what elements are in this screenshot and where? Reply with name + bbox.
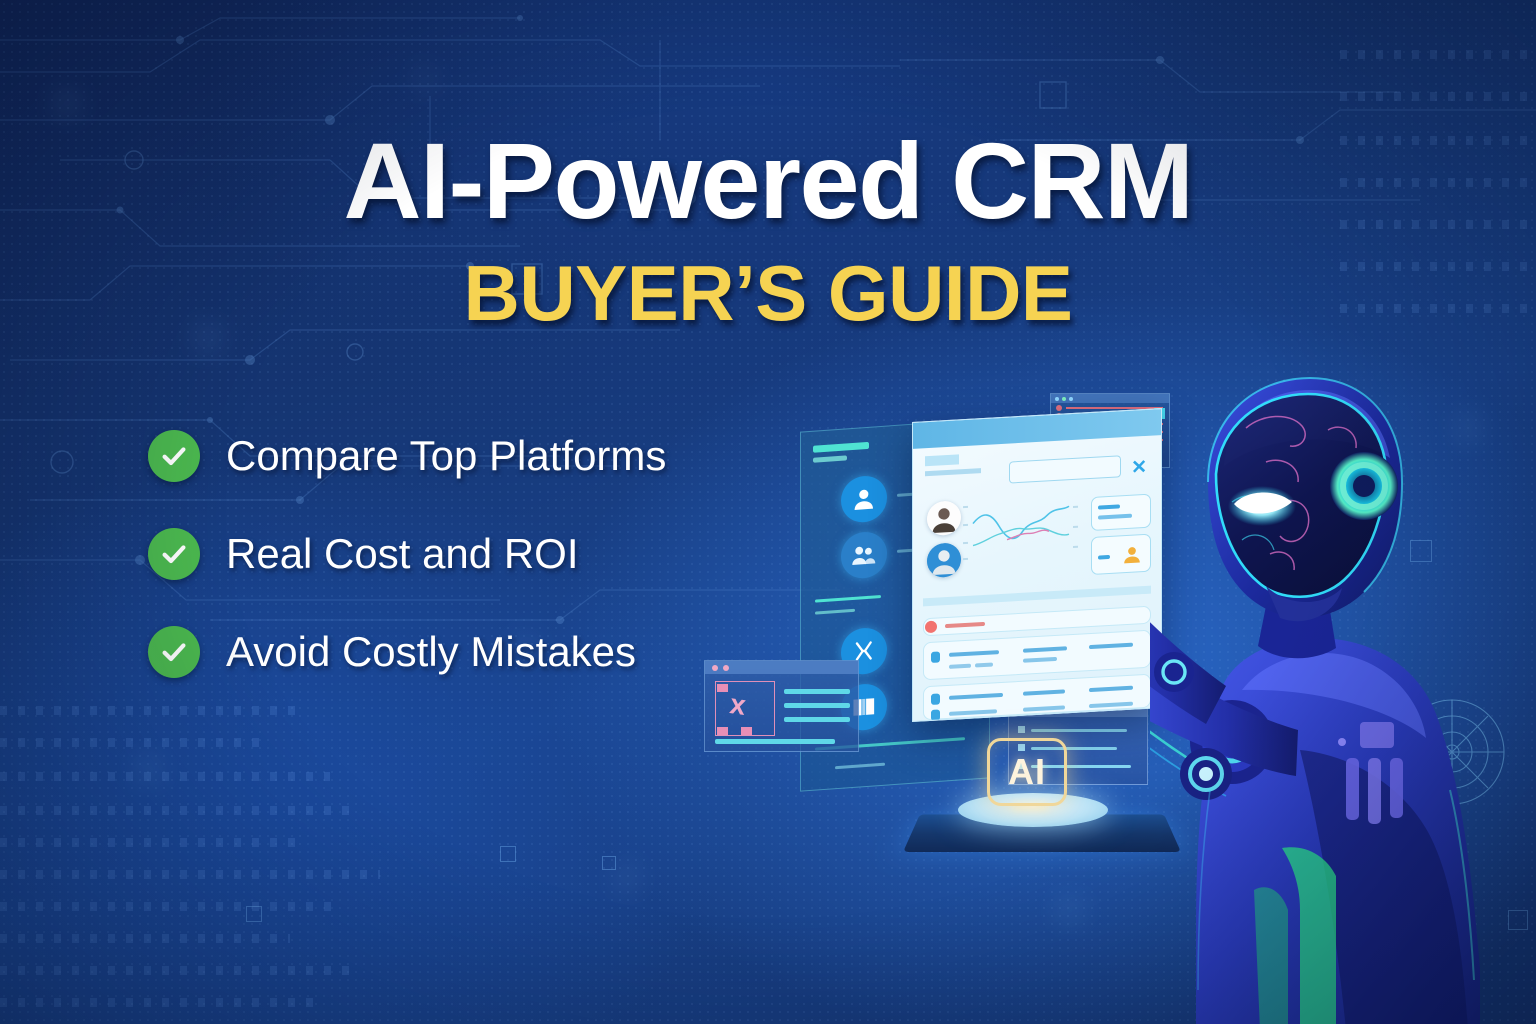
banner-canvas: AI-Powered CRM BUYER’S GUIDE Compare Top… xyxy=(0,0,1536,1024)
vignette-overlay xyxy=(0,0,1536,1024)
